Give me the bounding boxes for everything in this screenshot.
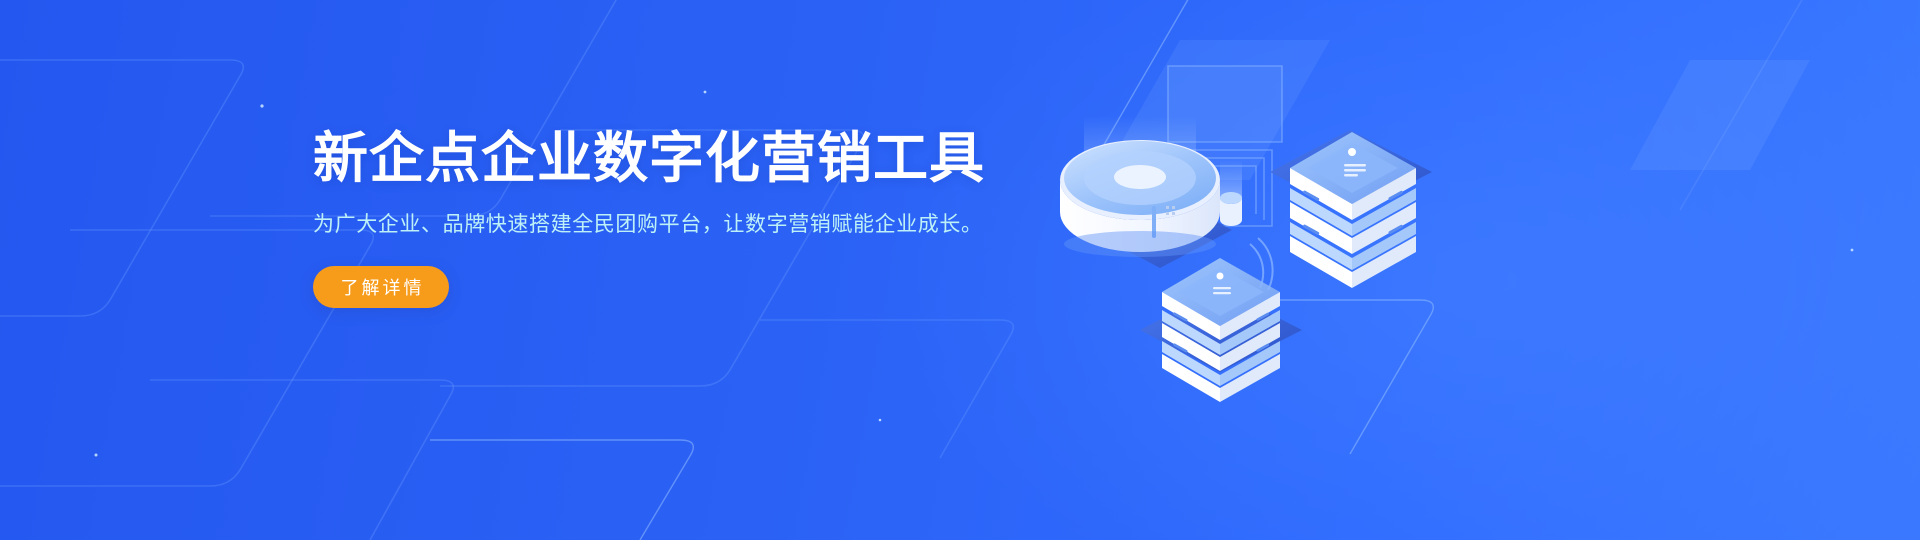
hero-copy: 新企点企业数字化营销工具 为广大企业、品牌快速搭建全民团购平台，让数字营销赋能企… xyxy=(313,128,1013,308)
yen-coin-badge-icon: ¥ xyxy=(1020,263,1030,325)
page-subtitle: 为广大企业、品牌快速搭建全民团购平台，让数字营销赋能企业成长。 xyxy=(313,210,1013,239)
page-title: 新企点企业数字化营销工具 xyxy=(313,128,1013,190)
hero-illustration: ¥ ¥ xyxy=(1020,30,1540,450)
small-cylinder-icon xyxy=(1220,160,1242,226)
cylinder-device-icon xyxy=(1060,116,1220,257)
hero-banner: 新企点企业数字化营销工具 为广大企业、品牌快速搭建全民团购平台，让数字营销赋能企… xyxy=(0,0,1920,540)
isometric-illustration-svg: ¥ ¥ xyxy=(1020,30,1540,450)
learn-more-button[interactable]: 了解详情 xyxy=(313,266,449,308)
